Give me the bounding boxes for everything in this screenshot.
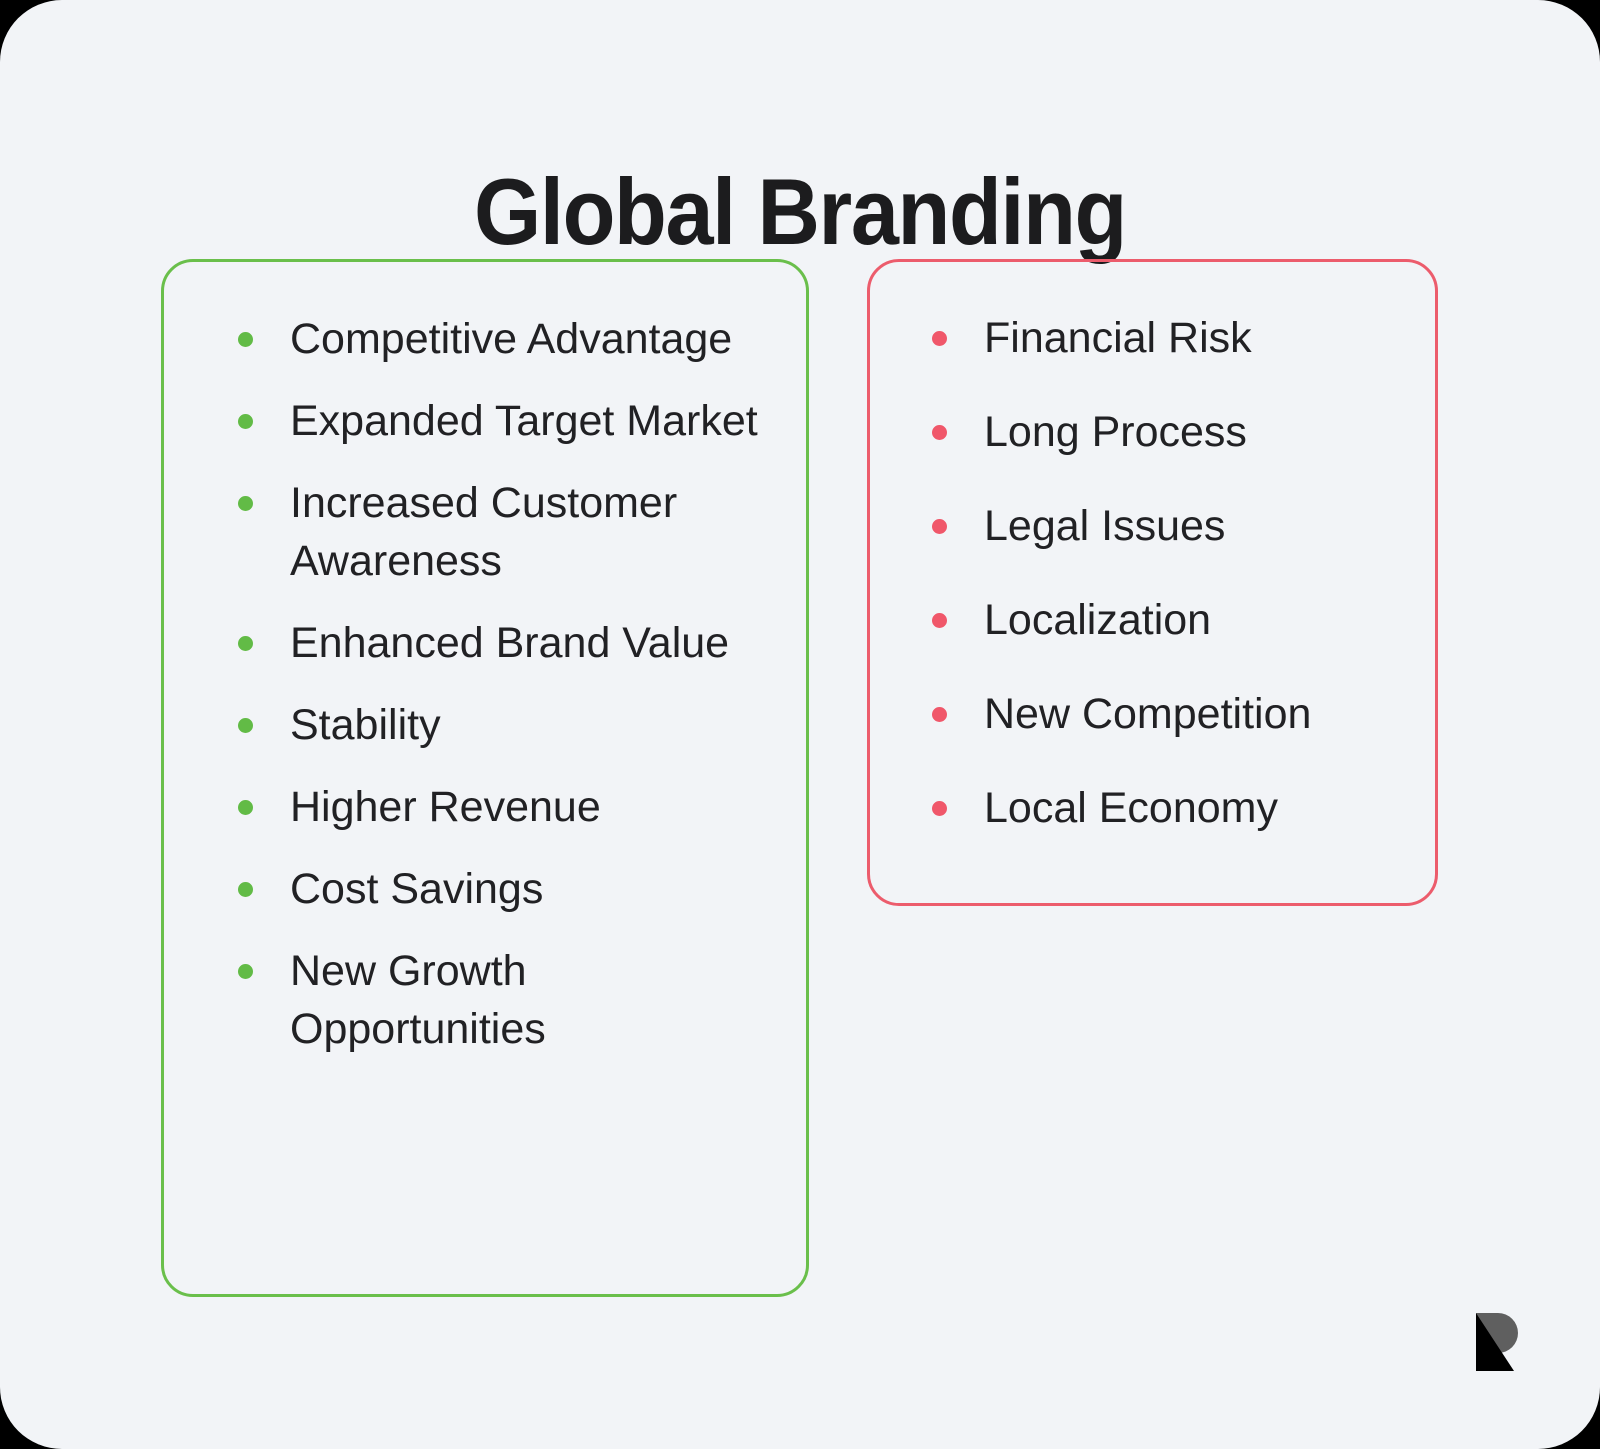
- list-item: Localization: [932, 591, 1407, 649]
- list-item-label: Long Process: [984, 403, 1407, 461]
- bullet-dot-icon: [932, 331, 947, 346]
- bullet-dot-icon: [238, 414, 253, 429]
- list-item-label: Enhanced Brand Value: [290, 614, 772, 672]
- list-item-label: Increased Customer Awareness: [290, 474, 772, 590]
- list-item-label: Competitive Advantage: [290, 310, 772, 368]
- list-item: Competitive Advantage: [238, 310, 772, 368]
- challenges-card: Financial RiskLong ProcessLegal IssuesLo…: [867, 259, 1438, 906]
- list-item: Stability: [238, 696, 772, 754]
- list-item: Long Process: [932, 403, 1407, 461]
- bullet-dot-icon: [238, 636, 253, 651]
- list-item-label: Expanded Target Market: [290, 392, 772, 450]
- bullet-dot-icon: [932, 519, 947, 534]
- brand-logo-r: [1462, 1305, 1532, 1379]
- bullet-dot-icon: [932, 425, 947, 440]
- bullet-dot-icon: [238, 718, 253, 733]
- benefits-card: Competitive AdvantageExpanded Target Mar…: [161, 259, 809, 1297]
- bullet-dot-icon: [238, 800, 253, 815]
- list-item: Financial Risk: [932, 309, 1407, 367]
- list-item: New Competition: [932, 685, 1407, 743]
- list-item: New Growth Opportunities: [238, 942, 772, 1058]
- list-item-label: New Competition: [984, 685, 1407, 743]
- list-item: Increased Customer Awareness: [238, 474, 772, 590]
- list-item: Higher Revenue: [238, 778, 772, 836]
- list-item: Cost Savings: [238, 860, 772, 918]
- list-item: Enhanced Brand Value: [238, 614, 772, 672]
- list-item-label: Legal Issues: [984, 497, 1407, 555]
- list-item-label: Local Economy: [984, 779, 1407, 837]
- challenges-list: Financial RiskLong ProcessLegal IssuesLo…: [870, 309, 1435, 873]
- list-item-label: Localization: [984, 591, 1407, 649]
- bullet-dot-icon: [238, 964, 253, 979]
- page-title: Global Branding: [64, 159, 1536, 265]
- list-item-label: Higher Revenue: [290, 778, 772, 836]
- list-item: Expanded Target Market: [238, 392, 772, 450]
- bullet-dot-icon: [238, 882, 253, 897]
- list-item: Local Economy: [932, 779, 1407, 837]
- bullet-dot-icon: [932, 801, 947, 816]
- bullet-dot-icon: [932, 707, 947, 722]
- list-item-label: New Growth Opportunities: [290, 942, 772, 1058]
- bullet-dot-icon: [932, 613, 947, 628]
- list-item: Legal Issues: [932, 497, 1407, 555]
- slide-canvas: Global Branding Competitive AdvantageExp…: [0, 0, 1600, 1449]
- list-item-label: Financial Risk: [984, 309, 1407, 367]
- list-item-label: Cost Savings: [290, 860, 772, 918]
- bullet-dot-icon: [238, 332, 253, 347]
- list-item-label: Stability: [290, 696, 772, 754]
- bullet-dot-icon: [238, 496, 253, 511]
- benefits-list: Competitive AdvantageExpanded Target Mar…: [164, 310, 806, 1082]
